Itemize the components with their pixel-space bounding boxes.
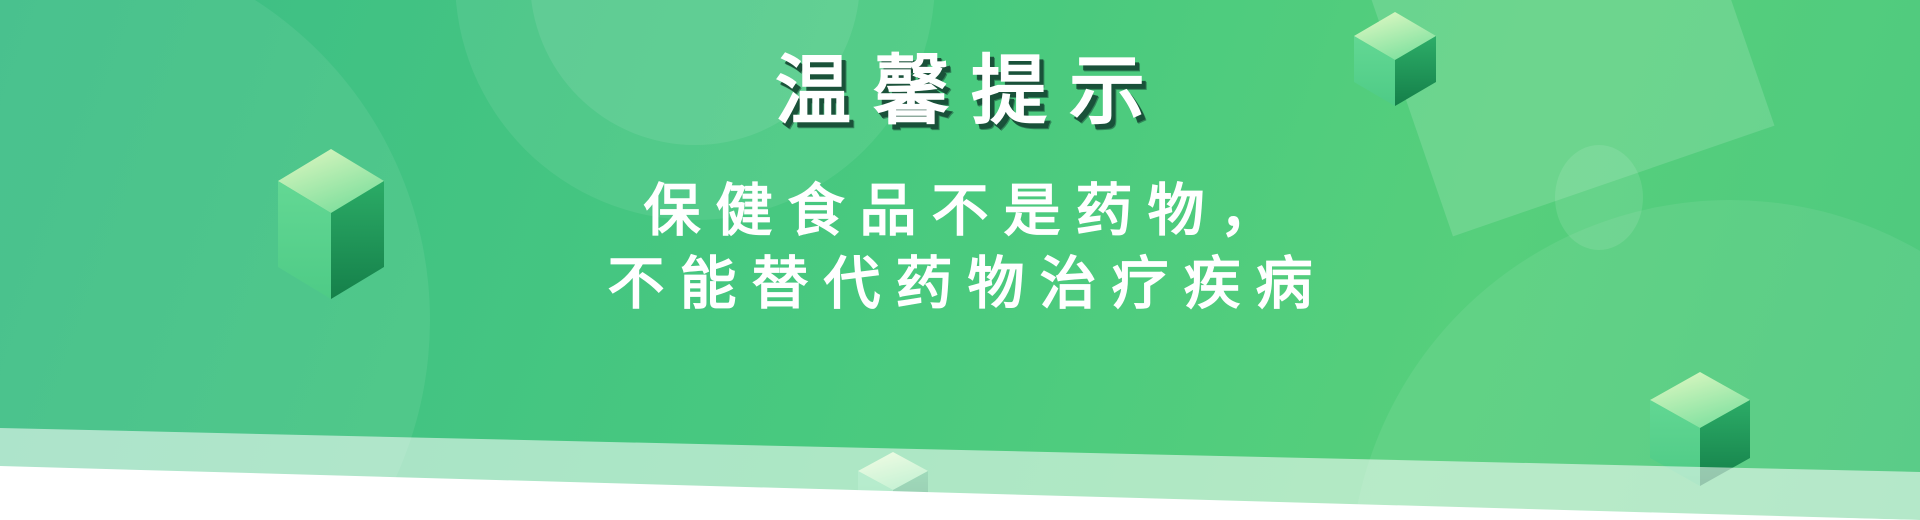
banner-subtitle-line-2: 不能替代药物治疗疾病: [0, 246, 1920, 320]
promo-banner: 温馨提示 保健食品不是药物， 不能替代药物治疗疾病: [0, 0, 1920, 520]
wave-band-decoration: [0, 380, 1920, 520]
banner-text-block: 温馨提示 保健食品不是药物， 不能替代药物治疗疾病: [0, 0, 1920, 320]
banner-subtitle-line-1: 保健食品不是药物，: [0, 133, 1920, 247]
banner-headline: 温馨提示: [0, 0, 1920, 133]
